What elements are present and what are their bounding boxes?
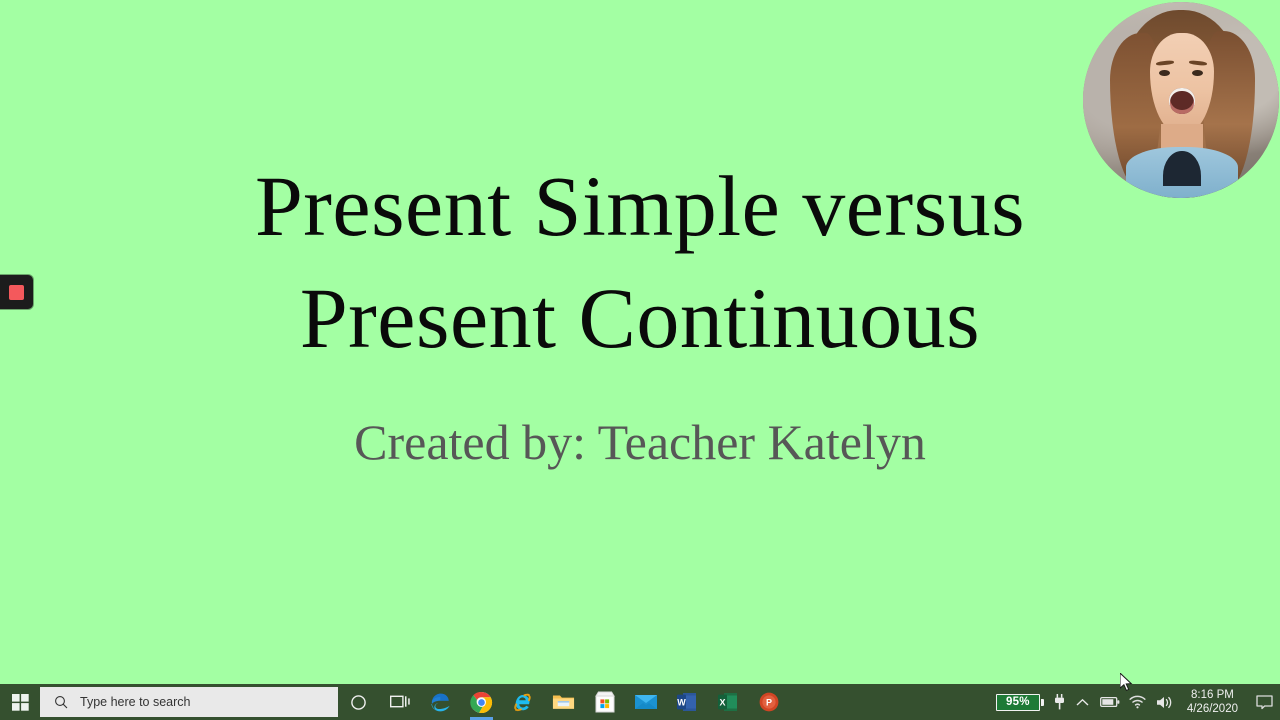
webcam-mouth bbox=[1169, 88, 1194, 113]
chevron-up-icon bbox=[1076, 698, 1089, 707]
taskbar-button-google-chrome[interactable] bbox=[461, 684, 502, 720]
svg-text:W: W bbox=[677, 697, 686, 707]
taskbar-button-mail[interactable] bbox=[625, 684, 666, 720]
taskbar-button-excel[interactable]: X bbox=[707, 684, 748, 720]
search-placeholder-text: Type here to search bbox=[80, 695, 190, 709]
taskbar-button-word[interactable]: W bbox=[666, 684, 707, 720]
tray-icon-volume[interactable] bbox=[1151, 684, 1179, 720]
taskbar-button-cortana[interactable] bbox=[338, 684, 379, 720]
speaker-icon bbox=[1156, 695, 1174, 710]
powerpoint-icon: P bbox=[758, 691, 780, 713]
notification-bubble-icon bbox=[1256, 695, 1273, 710]
start-button[interactable] bbox=[0, 684, 40, 720]
slide-title-line-2: Present Continuous bbox=[0, 262, 1280, 374]
action-center-button[interactable] bbox=[1248, 695, 1280, 710]
tray-icon-show-hidden[interactable] bbox=[1070, 684, 1096, 720]
slide-text-block: Present Simple versus Present Continuous… bbox=[0, 150, 1280, 472]
battery-badge-body: 95% bbox=[996, 694, 1040, 711]
plug-icon bbox=[1054, 694, 1065, 710]
webcam-eye-left bbox=[1159, 70, 1170, 76]
tray-icon-power-plug[interactable] bbox=[1050, 684, 1070, 720]
taskbar-button-microsoft-edge[interactable] bbox=[420, 684, 461, 720]
taskbar-button-file-explorer[interactable] bbox=[543, 684, 584, 720]
system-tray: 95% bbox=[992, 684, 1280, 720]
chrome-icon bbox=[470, 691, 493, 714]
webcam-video-bubble[interactable] bbox=[1083, 2, 1279, 198]
envelope-icon bbox=[634, 693, 658, 711]
windows-logo-icon bbox=[12, 694, 29, 711]
svg-text:P: P bbox=[765, 698, 771, 708]
task-view-icon bbox=[390, 694, 410, 710]
store-icon bbox=[595, 691, 615, 713]
taskbar-button-internet-explorer[interactable] bbox=[502, 684, 543, 720]
search-input[interactable]: Type here to search bbox=[40, 687, 338, 717]
taskbar-button-powerpoint[interactable]: P bbox=[748, 684, 789, 720]
windows-taskbar: Type here to search bbox=[0, 684, 1280, 720]
taskbar-button-task-view[interactable] bbox=[379, 684, 420, 720]
tray-icon-network[interactable] bbox=[1124, 684, 1151, 720]
clock-date: 4/26/2020 bbox=[1187, 702, 1238, 716]
battery-percent-badge[interactable]: 95% bbox=[996, 694, 1044, 711]
slide-subtitle: Created by: Teacher Katelyn bbox=[0, 412, 1280, 472]
clock-time: 8:16 PM bbox=[1191, 688, 1234, 702]
battery-percent-text: 95% bbox=[1002, 696, 1034, 708]
battery-icon bbox=[1100, 696, 1120, 708]
taskbar-clock[interactable]: 8:16 PM 4/26/2020 bbox=[1179, 688, 1248, 716]
internet-explorer-icon bbox=[511, 691, 534, 714]
taskbar-button-microsoft-store[interactable] bbox=[584, 684, 625, 720]
screen-recorder-toolbar[interactable] bbox=[0, 275, 33, 309]
tray-icon-battery[interactable] bbox=[1096, 684, 1124, 720]
edge-icon bbox=[429, 691, 452, 714]
search-icon bbox=[54, 695, 68, 709]
webcam-eye-right bbox=[1192, 70, 1203, 76]
word-icon: W bbox=[677, 691, 696, 713]
wifi-icon bbox=[1129, 695, 1146, 709]
battery-badge-tip bbox=[1041, 699, 1044, 706]
excel-icon: X bbox=[718, 691, 737, 713]
circle-icon bbox=[350, 694, 367, 711]
svg-text:X: X bbox=[719, 697, 725, 707]
presentation-slide: Present Simple versus Present Continuous… bbox=[0, 0, 1280, 720]
folder-icon bbox=[552, 692, 575, 712]
stop-recording-icon[interactable] bbox=[9, 285, 24, 300]
